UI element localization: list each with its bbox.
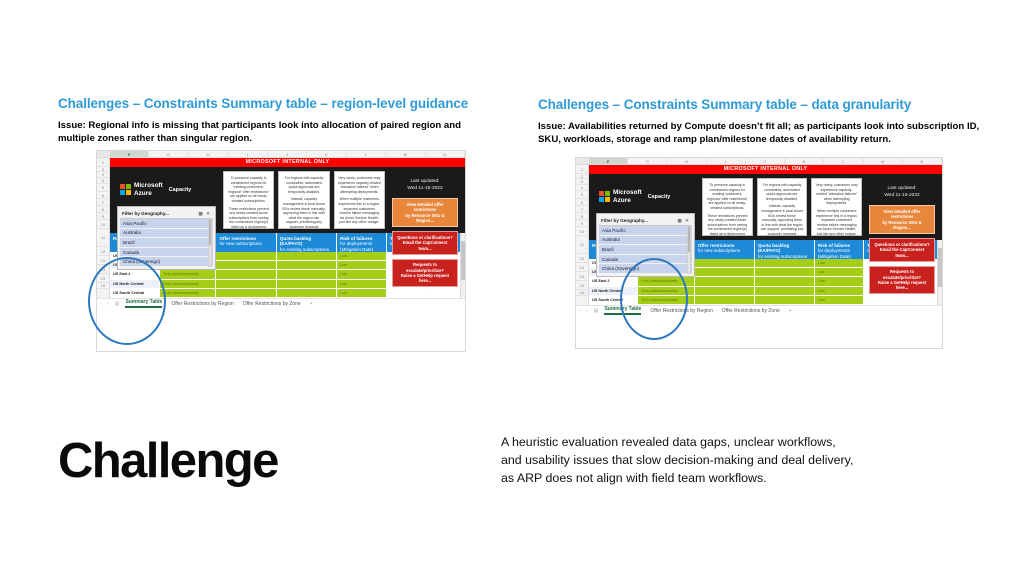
- info-card: For regions with capacity constraints, a…: [278, 171, 329, 229]
- body-paragraph: A heuristic evaluation revealed data gap…: [501, 433, 859, 488]
- info-card-paragraph: To preserve capacity in constrained regi…: [227, 176, 270, 204]
- table-cell[interactable]: Only classic/specialty constraints*: [638, 277, 694, 286]
- microsoft-logo-icon: [120, 184, 131, 195]
- sheet-tab[interactable]: Summary Table: [604, 306, 641, 315]
- sheet-vertical-scrollbar[interactable]: [937, 240, 942, 305]
- column-header-i[interactable]: I: [228, 151, 267, 157]
- select-all-corner[interactable]: [576, 158, 589, 164]
- all-sheets-icon[interactable]: ▤: [115, 301, 122, 307]
- column-header-k[interactable]: K: [307, 151, 346, 157]
- geography-filter-item[interactable]: Canada: [599, 255, 692, 265]
- row-number[interactable]: 14: [576, 272, 588, 281]
- geography-filter-item[interactable]: China (Sovereign): [599, 264, 692, 274]
- brand-name: MicrosoftAzure: [613, 189, 642, 204]
- panel-title: Challenges – Constraints Summary table –…: [58, 96, 478, 111]
- sheet-tab[interactable]: Offer Restrictions by Region: [171, 301, 233, 307]
- column-header-i[interactable]: I: [707, 158, 746, 164]
- info-card-paragraph: These restrictions prevent any newly-cre…: [227, 207, 270, 229]
- info-card-paragraph: Internal teams can see this by using Ind…: [338, 228, 381, 229]
- add-sheet-icon[interactable]: +: [310, 301, 313, 307]
- column-header-title: Quota backlog (EA/PAYG): [758, 243, 811, 254]
- cta-button[interactable]: Questions or clarifications?Email the Ca…: [869, 238, 935, 261]
- table-cell[interactable]: -: [277, 252, 337, 261]
- table-cell[interactable]: [277, 270, 337, 279]
- geography-filter-item[interactable]: Brazil: [120, 238, 213, 248]
- table-cell[interactable]: -: [277, 261, 337, 270]
- column-header-g[interactable]: G: [149, 151, 188, 157]
- add-sheet-icon[interactable]: +: [789, 308, 792, 314]
- column-header-cell[interactable]: Risk of failuresfor deployments (Mitigat…: [815, 240, 864, 259]
- column-header-cell[interactable]: Quota backlog (EA/PAYG)for existing subs…: [755, 240, 815, 259]
- slide-root: Challenges – Constraints Summary table –…: [0, 0, 1024, 576]
- cta-button[interactable]: Requests to escalate/prioritize?Raise a …: [869, 266, 935, 295]
- geography-filter-list[interactable]: Asia PacificAustraliaBrazilCanadaChina (…: [599, 226, 692, 274]
- sheet-body: 12345678910111213141516MICROSOFT INTERNA…: [97, 158, 465, 298]
- brand-lockup: MicrosoftAzureCapacity: [599, 188, 695, 206]
- geography-filter-label: Filter by Geography...: [601, 218, 648, 223]
- row-number[interactable]: 15: [97, 274, 109, 283]
- info-card: To preserve capacity in constrained regi…: [223, 171, 274, 229]
- column-header-strip: FGHIJKLMN: [97, 151, 465, 158]
- column-header-m[interactable]: M: [864, 158, 903, 164]
- table-cell[interactable]: Only classic/specialty constraints*: [638, 287, 694, 296]
- info-card-paragraph: For regions with capacity constraints, a…: [282, 176, 325, 194]
- cell-grid: MICROSOFT INTERNAL ONLYMicrosoftAzureCap…: [589, 165, 942, 305]
- row-number-gutter: 12345678910111213141516: [576, 165, 589, 305]
- column-header-l[interactable]: L: [824, 158, 863, 164]
- panel-issue-text: Issue: Regional info is missing that par…: [58, 120, 478, 145]
- row-number[interactable]: 6: [576, 199, 588, 206]
- geography-filter-item[interactable]: Australia: [120, 229, 213, 239]
- table-cell[interactable]: Low: [337, 280, 387, 289]
- geography-filter-item[interactable]: Asia Pacific: [599, 226, 692, 236]
- column-header-j[interactable]: J: [746, 158, 785, 164]
- table-cell[interactable]: -: [755, 268, 815, 277]
- table-cell[interactable]: [755, 277, 815, 286]
- row-number[interactable]: 8: [576, 213, 588, 220]
- last-updated-block: Last updated:Wed 11-16-2022: [392, 178, 458, 192]
- cell-grid: MICROSOFT INTERNAL ONLYMicrosoftAzureCap…: [110, 158, 465, 298]
- table-cell[interactable]: -: [277, 280, 337, 289]
- column-header-sub: for new subscriptions: [219, 241, 261, 246]
- filter-toolbar-icons[interactable]: ▦ ✕: [678, 218, 690, 224]
- row-number[interactable]: 10: [576, 227, 588, 236]
- internal-only-banner: MICROSOFT INTERNAL ONLY: [589, 165, 942, 174]
- internal-only-banner: MICROSOFT INTERNAL ONLY: [110, 158, 465, 167]
- table-cell[interactable]: -: [216, 280, 276, 289]
- last-updated-block: Last updated:Wed 11-16-2022: [869, 185, 935, 199]
- table-cell[interactable]: [755, 296, 815, 305]
- column-header-h[interactable]: H: [667, 158, 706, 164]
- filter-list-scrollbar[interactable]: [687, 226, 691, 274]
- brand-lockup: MicrosoftAzureCapacity: [120, 181, 216, 199]
- info-card: Very rarely, customers may experience ca…: [334, 171, 385, 229]
- sheet-tab[interactable]: Offer Restrictions by Zone: [722, 308, 780, 314]
- table-cell[interactable]: Low: [815, 287, 864, 296]
- panel-title: Challenges – Constraints Summary table –…: [538, 97, 993, 112]
- table-cell[interactable]: [277, 289, 337, 298]
- last-updated-value: Wed 11-16-2022: [884, 193, 919, 198]
- table-cell[interactable]: Low: [815, 259, 864, 268]
- table-cell[interactable]: -: [216, 261, 276, 270]
- table-cell[interactable]: Low: [815, 296, 864, 305]
- table-cell[interactable]: [216, 270, 276, 279]
- info-card: For regions with capacity constraints, a…: [757, 178, 808, 236]
- row-number[interactable]: 8: [97, 206, 109, 213]
- column-header-sub: for deployments (Mitigation Date): [340, 241, 373, 251]
- column-header-f[interactable]: F: [110, 151, 149, 157]
- table-cell[interactable]: US North Central: [110, 280, 160, 289]
- table-cell[interactable]: Only classic/specialty constraints*: [160, 280, 217, 289]
- geography-filter[interactable]: Filter by Geography...▦ ✕Asia PacificAus…: [117, 206, 216, 270]
- geography-filter-item[interactable]: China (Sovereign): [120, 257, 213, 267]
- info-card-paragraph: Very rarely, customers may experience ca…: [338, 176, 381, 194]
- info-card-paragraph: When multiple customers experience this …: [338, 197, 381, 225]
- row-number[interactable]: 12: [97, 247, 109, 256]
- sheet-nav-arrows-icon[interactable]: ‹ ›: [579, 308, 590, 314]
- info-card-paragraph: Instead, capacity management & local Azu…: [761, 204, 804, 236]
- column-header-n[interactable]: N: [426, 151, 465, 157]
- cta-button[interactable]: Questions or clarifications?Email the Ca…: [392, 231, 458, 254]
- info-card-paragraph: Very rarely, customers may experience ca…: [815, 183, 858, 206]
- dashboard-header-zone: MicrosoftAzureCapacityFilter by Geograph…: [589, 174, 942, 240]
- product-name: Capacity: [648, 194, 670, 200]
- row-number[interactable]: 14: [97, 265, 109, 274]
- last-updated-label: Last updated:: [410, 179, 439, 184]
- info-card-paragraph: Instead, capacity management & local Azu…: [282, 197, 325, 229]
- geography-filter-label-row: Filter by Geography...▦ ✕: [120, 209, 213, 219]
- filter-toolbar-icons[interactable]: ▦ ✕: [199, 211, 211, 217]
- info-card-paragraph: These restrictions prevent any newly-cre…: [706, 214, 749, 236]
- table-cell[interactable]: Low: [337, 261, 387, 270]
- row-number[interactable]: 9: [576, 220, 588, 227]
- row-number[interactable]: 10: [97, 220, 109, 229]
- cta-button[interactable]: View detailed offer restrictionsby Resou…: [392, 198, 458, 227]
- column-header-g[interactable]: G: [628, 158, 667, 164]
- column-header-strip: FGHIJKLMN: [576, 158, 942, 165]
- column-header-k[interactable]: K: [785, 158, 824, 164]
- excel-screenshot-2: FGHIJKLMN12345678910111213141516MICROSOF…: [575, 157, 943, 349]
- row-number[interactable]: 6: [97, 192, 109, 199]
- row-number[interactable]: 7: [97, 199, 109, 206]
- table-cell[interactable]: Low: [337, 252, 387, 261]
- table-cell[interactable]: Low: [337, 289, 387, 298]
- last-updated-label: Last updated:: [887, 186, 916, 191]
- cta-button[interactable]: Requests to escalate/prioritize?Raise a …: [392, 259, 458, 288]
- row-number[interactable]: 7: [576, 206, 588, 213]
- panel-issue-text: Issue: Availabilities returned by Comput…: [538, 121, 993, 146]
- microsoft-logo-icon: [599, 191, 610, 202]
- column-header-title: Quota backlog (EA/PAYG): [280, 236, 333, 247]
- geography-filter-item[interactable]: Canada: [120, 248, 213, 258]
- table-cell[interactable]: [216, 289, 276, 298]
- column-header-h[interactable]: H: [189, 151, 228, 157]
- product-name: Capacity: [169, 187, 191, 193]
- table-cell[interactable]: [695, 259, 755, 268]
- geography-filter-label-row: Filter by Geography...▦ ✕: [599, 216, 692, 226]
- geography-filter-label: Filter by Geography...: [122, 211, 169, 216]
- table-row[interactable]: US South CentralOnly classic/specialty c…: [589, 296, 942, 305]
- table-cell[interactable]: -: [387, 289, 423, 298]
- table-cell[interactable]: -: [422, 289, 465, 298]
- table-cell[interactable]: -: [695, 268, 755, 277]
- sheet-tab[interactable]: Summary Table: [125, 299, 162, 308]
- table-cell[interactable]: Only classic/specialty constraints*: [160, 289, 217, 298]
- table-cell[interactable]: Low: [815, 277, 864, 286]
- table-cell[interactable]: US East 2: [110, 270, 160, 279]
- row-number[interactable]: 16: [576, 290, 588, 296]
- table-cell[interactable]: Only classic/specialty constraints*: [638, 296, 694, 305]
- table-row[interactable]: US South CentralOnly classic/specialty c…: [110, 289, 465, 298]
- row-number[interactable]: 11: [97, 229, 109, 247]
- row-number[interactable]: 1: [576, 165, 588, 174]
- excel-screenshot-1: FGHIJKLMN12345678910111213141516MICROSOF…: [96, 150, 466, 352]
- table-cell[interactable]: -: [695, 287, 755, 296]
- panel-data-granularity: Challenges – Constraints Summary table –…: [538, 97, 993, 146]
- table-cell[interactable]: Low: [337, 270, 387, 279]
- row-number[interactable]: 15: [576, 281, 588, 290]
- column-header-m[interactable]: M: [386, 151, 425, 157]
- table-cell[interactable]: US East 2: [589, 277, 638, 286]
- table-cell[interactable]: US South Central: [110, 289, 160, 298]
- row-number-gutter: 12345678910111213141516: [97, 158, 110, 298]
- sheet-tab-bar: ‹ ›▤Summary TableOffer Restrictions by R…: [576, 305, 942, 316]
- sheet-tab[interactable]: Offer Restrictions by Zone: [243, 301, 301, 307]
- info-card-paragraph: To preserve capacity in constrained regi…: [706, 183, 749, 211]
- sheet-body: 12345678910111213141516MICROSOFT INTERNA…: [576, 165, 942, 305]
- last-updated-value: Wed 11-16-2022: [407, 186, 442, 191]
- row-number[interactable]: 9: [97, 213, 109, 220]
- cta-button[interactable]: View detailed offer restrictionsby Resou…: [869, 205, 935, 234]
- geography-filter-item[interactable]: Asia Pacific: [120, 219, 213, 229]
- sheet-nav-arrows-icon[interactable]: ‹ ›: [100, 301, 111, 307]
- updates-and-cta-column: Last updated:Wed 11-16-2022View detailed…: [389, 171, 461, 229]
- info-card-paragraph: When multiple customers experience this …: [815, 209, 858, 236]
- brand-and-filter-column: MicrosoftAzureCapacityFilter by Geograph…: [593, 178, 698, 236]
- table-cell[interactable]: Only classic/specialty constraints*: [160, 270, 217, 279]
- dashboard-header-zone: MicrosoftAzureCapacityFilter by Geograph…: [110, 167, 465, 233]
- brand-and-filter-column: MicrosoftAzureCapacityFilter by Geograph…: [114, 171, 219, 229]
- column-header-cell[interactable]: Offer restrictionsfor new subscriptions: [695, 240, 755, 259]
- table-cell[interactable]: [695, 296, 755, 305]
- sheet-vertical-scrollbar[interactable]: [460, 233, 465, 298]
- page-title: Challenge: [58, 437, 278, 486]
- column-header-sub: for new subscriptions: [698, 248, 740, 253]
- table-cell[interactable]: -: [900, 296, 942, 305]
- table-cell[interactable]: Low: [815, 268, 864, 277]
- row-number[interactable]: 13: [576, 263, 588, 272]
- info-card: Very rarely, customers may experience ca…: [811, 178, 862, 236]
- geography-filter-item[interactable]: Australia: [599, 236, 692, 246]
- row-number[interactable]: 5: [576, 191, 588, 199]
- table-cell[interactable]: -: [755, 287, 815, 296]
- table-cell[interactable]: [216, 252, 276, 261]
- sheet-tab[interactable]: Offer Restrictions by Region: [650, 308, 712, 314]
- column-header-j[interactable]: J: [268, 151, 307, 157]
- row-number[interactable]: 1: [97, 158, 109, 167]
- table-cell[interactable]: -: [864, 296, 899, 305]
- column-header-cell[interactable]: Offer restrictionsfor new subscriptions: [216, 233, 276, 252]
- panel-region-level-guidance: Challenges – Constraints Summary table –…: [58, 96, 478, 145]
- column-header-l[interactable]: L: [347, 151, 386, 157]
- row-number[interactable]: 11: [576, 236, 588, 254]
- brand-name: MicrosoftAzure: [134, 182, 163, 197]
- info-card: To preserve capacity in constrained regi…: [702, 178, 753, 236]
- table-cell[interactable]: [695, 277, 755, 286]
- geography-filter-list[interactable]: Asia PacificAustraliaBrazilCanadaChina (…: [120, 219, 213, 267]
- updates-and-cta-column: Last updated:Wed 11-16-2022View detailed…: [866, 178, 938, 236]
- table-cell[interactable]: US South Central: [589, 296, 638, 305]
- geography-filter[interactable]: Filter by Geography...▦ ✕Asia PacificAus…: [596, 213, 695, 277]
- row-number[interactable]: 13: [97, 256, 109, 265]
- row-number[interactable]: 12: [576, 254, 588, 263]
- column-header-sub: for deployments (Mitigation Date): [818, 248, 851, 258]
- filter-list-scrollbar[interactable]: [208, 219, 212, 267]
- row-number[interactable]: 5: [97, 184, 109, 192]
- column-header-cell[interactable]: Risk of failuresfor deployments (Mitigat…: [337, 233, 387, 252]
- table-cell[interactable]: -: [755, 259, 815, 268]
- table-cell[interactable]: US North Central: [589, 287, 638, 296]
- select-all-corner[interactable]: [97, 151, 110, 157]
- geography-filter-item[interactable]: Brazil: [599, 245, 692, 255]
- info-card-paragraph: For regions with capacity constraints, a…: [761, 183, 804, 201]
- column-header-cell[interactable]: Quota backlog (EA/PAYG)for existing subs…: [277, 233, 337, 252]
- sheet-tab-bar: ‹ ›▤Summary TableOffer Restrictions by R…: [97, 298, 465, 309]
- all-sheets-icon[interactable]: ▤: [594, 308, 601, 314]
- column-header-f[interactable]: F: [589, 158, 628, 164]
- row-number[interactable]: 16: [97, 283, 109, 289]
- column-header-n[interactable]: N: [903, 158, 942, 164]
